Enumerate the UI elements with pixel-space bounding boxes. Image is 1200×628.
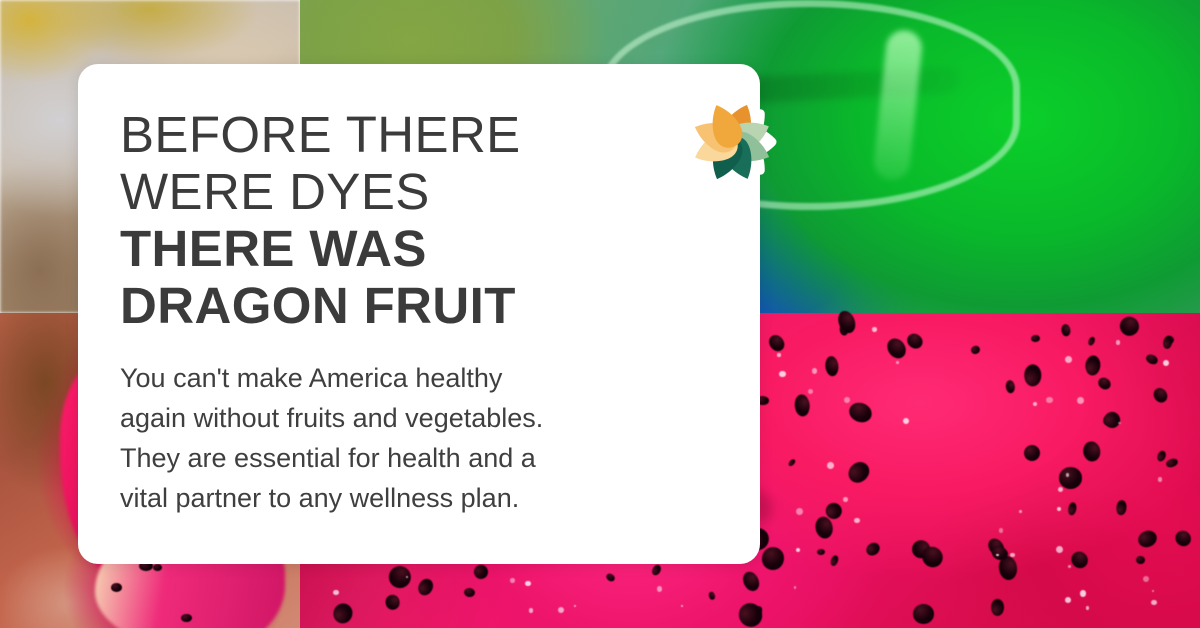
moisture-droplet: [525, 581, 530, 586]
dragon-fruit-seed: [153, 564, 162, 571]
moisture-droplet: [777, 353, 780, 356]
content-card: BEFORE THERE WERE DYES THERE WAS DRAGON …: [78, 64, 760, 564]
flower-petal-logo-icon: [676, 86, 788, 198]
moisture-droplet: [1066, 473, 1070, 477]
moisture-droplet: [510, 578, 515, 583]
dragon-fruit-seed: [1059, 466, 1083, 488]
moisture-droplet: [827, 462, 834, 469]
dragon-fruit-seed: [913, 603, 935, 623]
moisture-droplet: [1077, 397, 1084, 404]
moisture-droplet: [1116, 340, 1120, 344]
body-copy-line-3: They are essential for health and a: [120, 438, 680, 478]
moisture-droplet: [1058, 487, 1063, 492]
headline: BEFORE THERE WERE DYES THERE WAS DRAGON …: [120, 106, 760, 334]
moisture-droplet: [558, 607, 564, 613]
moisture-droplet: [1065, 597, 1071, 603]
moisture-droplet: [896, 361, 898, 363]
moisture-droplet: [779, 371, 785, 377]
moisture-droplet: [574, 605, 576, 607]
moisture-droplet: [1010, 553, 1015, 558]
moisture-droplet: [1163, 360, 1169, 366]
dragon-fruit-seed: [181, 614, 191, 622]
moisture-droplet: [903, 418, 909, 424]
moisture-droplet: [796, 548, 800, 552]
moisture-droplet: [872, 327, 877, 332]
content-card-inner: BEFORE THERE WERE DYES THERE WAS DRAGON …: [78, 64, 760, 564]
banner-canvas: BEFORE THERE WERE DYES THERE WAS DRAGON …: [0, 0, 1200, 628]
headline-line-2: WERE DYES: [120, 163, 760, 220]
moisture-droplet: [999, 528, 1003, 532]
moisture-droplet: [529, 608, 534, 613]
headline-line-3: THERE WAS: [120, 220, 760, 277]
body-copy: You can't make America healthy again wit…: [120, 358, 680, 518]
headline-line-4: DRAGON FRUIT: [120, 277, 760, 334]
body-copy-line-2: again without fruits and vegetables.: [120, 398, 680, 438]
body-copy-line-1: You can't make America healthy: [120, 358, 680, 398]
moisture-droplet: [1086, 606, 1089, 609]
headline-line-1: BEFORE THERE: [120, 106, 760, 163]
moisture-droplet: [1019, 510, 1022, 513]
moisture-droplet: [1080, 590, 1087, 597]
moisture-droplet: [996, 554, 998, 556]
moisture-droplet: [843, 497, 848, 502]
dragon-fruit-seed: [1024, 364, 1041, 386]
moisture-droplet: [1046, 397, 1053, 404]
moisture-droplet: [844, 397, 850, 403]
dragon-fruit-seed: [111, 583, 123, 592]
moisture-droplet: [796, 508, 803, 515]
moisture-droplet: [854, 518, 859, 523]
moisture-droplet: [1143, 576, 1149, 582]
moisture-droplet: [794, 586, 797, 589]
moisture-droplet: [1056, 546, 1063, 553]
moisture-droplet: [1158, 477, 1162, 481]
body-copy-line-4: vital partner to any wellness plan.: [120, 478, 680, 518]
